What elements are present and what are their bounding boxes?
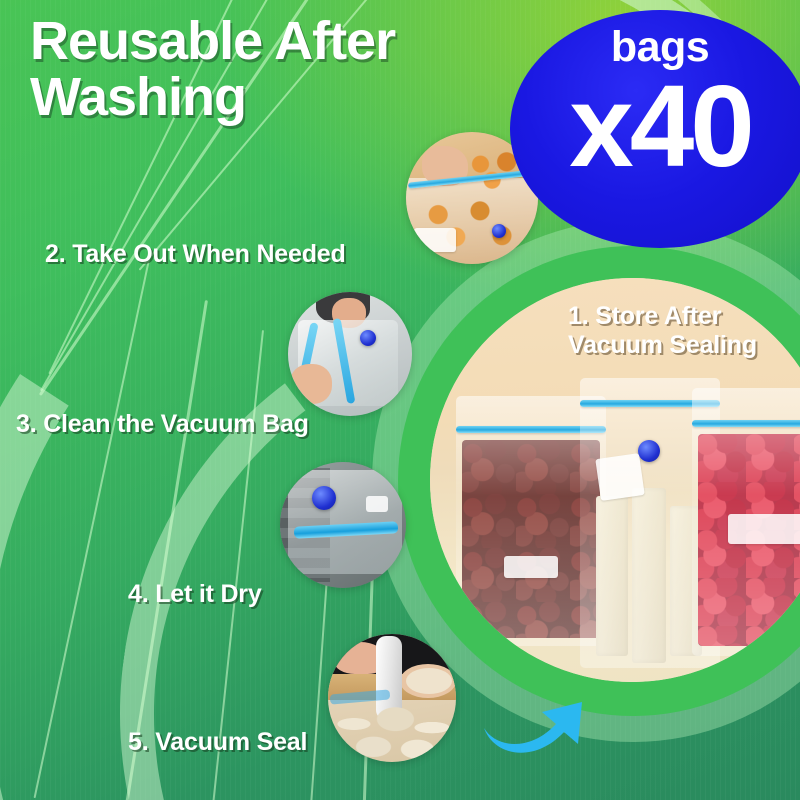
step-1-label-line-2: Vacuum Sealing <box>568 331 757 359</box>
step-5-label: 5. Vacuum Seal <box>128 728 307 757</box>
step-5-photo <box>328 634 456 762</box>
step-4-photo <box>280 462 406 588</box>
step-4-label: 4. Let it Dry <box>128 580 262 609</box>
step-2-label: 2. Take Out When Needed <box>45 240 346 269</box>
badge-quantity-value: x40 <box>569 71 751 181</box>
cycle-arrow-icon <box>478 662 608 758</box>
step-1-label-line-1: 1. Store After <box>568 302 721 330</box>
vacuum-bag-cherries <box>692 388 800 656</box>
page-title: Reusable After Washing <box>30 14 500 125</box>
step-3-photo <box>288 292 412 416</box>
product-infographic-poster: bags x40 Reusable After Washing 1. Store… <box>0 0 800 800</box>
step-3-label: 3. Clean the Vacuum Bag <box>16 410 309 439</box>
step-1-label: 1. Store After Vacuum Sealing <box>568 302 788 360</box>
quantity-badge: bags x40 <box>510 10 800 248</box>
